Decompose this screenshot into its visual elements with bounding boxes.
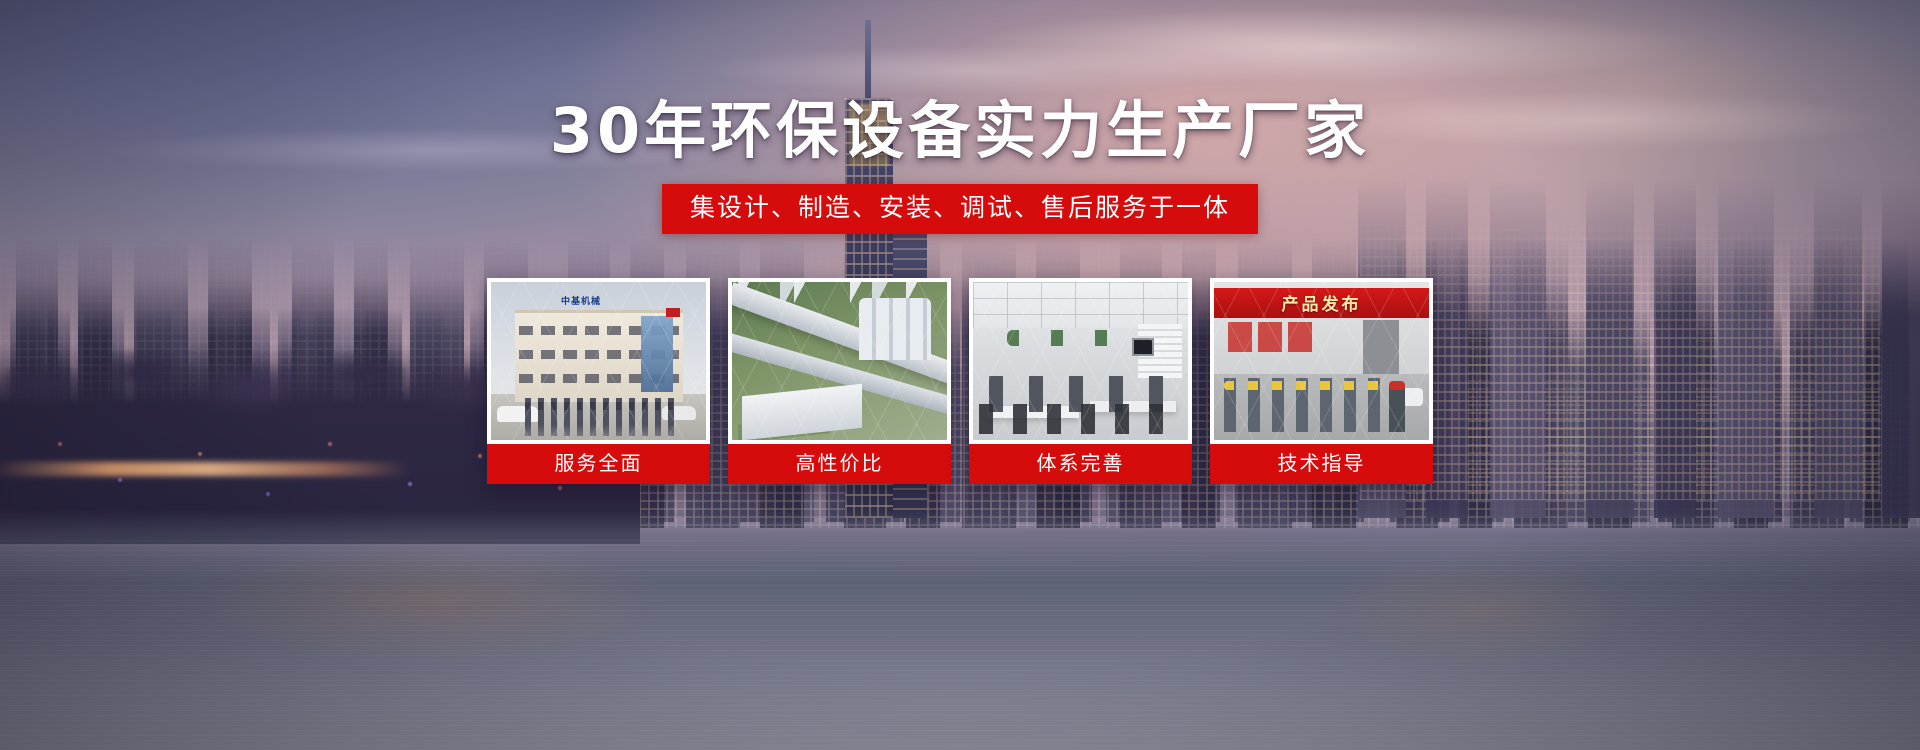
- photo3-chairs: [979, 404, 1179, 434]
- factory-workers-photo: 产品发布: [1214, 282, 1429, 440]
- photo4-instructor-helmet: [1389, 381, 1405, 390]
- photo4-instructor: [1389, 384, 1405, 432]
- feature-card[interactable]: 高性价比: [728, 278, 951, 484]
- company-office-building-photo: 中基机械: [491, 282, 706, 440]
- photo3-monitor: [1132, 338, 1154, 356]
- photo3-ceiling: [973, 282, 1188, 328]
- production-plant-aerial-photo: [732, 282, 947, 440]
- photo4-hard-hats: [1224, 381, 1384, 390]
- office-team-meeting-photo: [973, 282, 1188, 440]
- feature-card[interactable]: 产品发布 技术指导: [1210, 278, 1433, 484]
- photo1-flag: [666, 308, 680, 317]
- photo2-silos: [859, 298, 931, 360]
- photo1-signage-text: 中基机械: [561, 294, 601, 307]
- feature-card-caption: 体系完善: [969, 444, 1192, 484]
- feature-card-list: 中基机械 服务全面: [487, 278, 1433, 484]
- photo3-plants: [1007, 330, 1127, 346]
- photo1-staff-heads: [525, 402, 675, 410]
- photo4-door: [1363, 320, 1399, 378]
- hero-banner: 30年环保设备实力生产厂家 集设计、制造、安装、调试、售后服务于一体 中基机械: [0, 0, 1920, 750]
- photo4-banner-text: 产品发布: [1214, 288, 1429, 318]
- banner-headline: 30年环保设备实力生产厂家: [550, 100, 1370, 162]
- feature-card[interactable]: 中基机械 服务全面: [487, 278, 710, 484]
- banner-subtitle-bar: 集设计、制造、安装、调试、售后服务于一体: [662, 184, 1258, 234]
- photo1-glass-facade: [641, 316, 673, 392]
- feature-card-caption: 服务全面: [487, 444, 710, 484]
- feature-card[interactable]: 体系完善: [969, 278, 1192, 484]
- feature-card-caption: 技术指导: [1210, 444, 1433, 484]
- photo4-wall-posters: [1228, 322, 1314, 352]
- banner-content: 30年环保设备实力生产厂家 集设计、制造、安装、调试、售后服务于一体 中基机械: [0, 0, 1920, 750]
- feature-card-caption: 高性价比: [728, 444, 951, 484]
